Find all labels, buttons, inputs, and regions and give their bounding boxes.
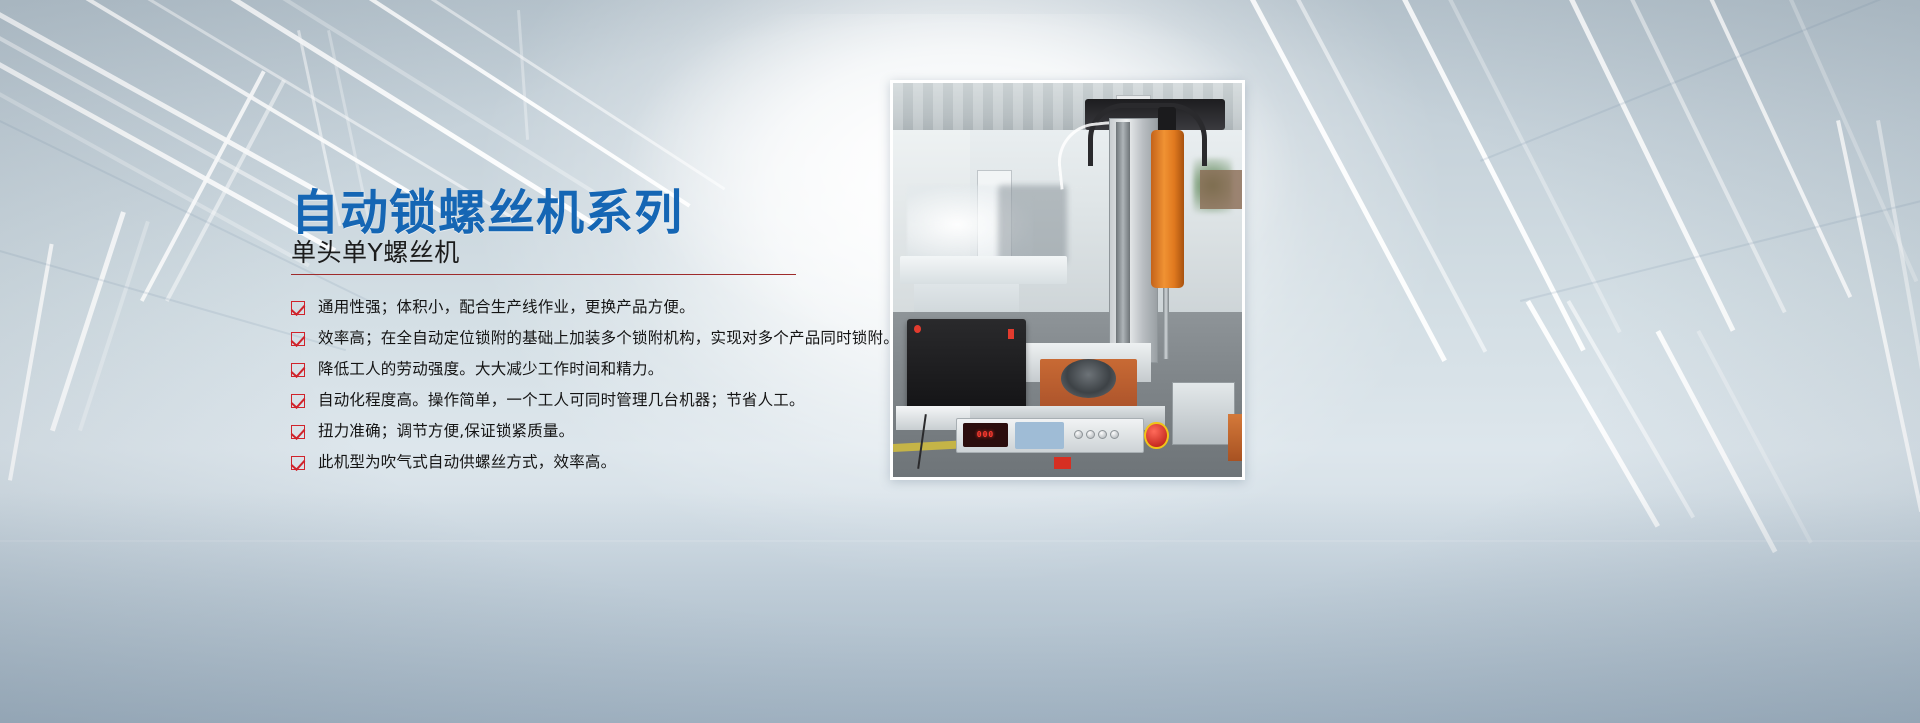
photo-knob-row [1074,424,1140,446]
photo-indicator-led [1008,329,1014,338]
list-item: 扭力准确；调节方便,保证锁紧质量。 [291,416,911,447]
photo-knob [1098,430,1107,439]
list-item: 自动化程度高。操作简单，一个工人可同时管理几台机器；节省人工。 [291,385,911,416]
check-icon [291,332,305,346]
list-item: 此机型为吹气式自动供螺丝方式，效率高。 [291,447,911,478]
photo-power-switch [1054,457,1071,469]
photo-keypad [1015,422,1064,450]
product-photo-frame: 000 [890,80,1245,480]
feature-text: 通用性强；体积小，配合生产线作业，更换产品方便。 [318,292,695,323]
photo-right-equipment [1228,414,1242,461]
check-icon [291,363,305,377]
banner-content: 自动锁螺丝机系列 单头单Y螺丝机 通用性强；体积小，配合生产线作业，更换产品方便… [0,0,1920,723]
check-icon [291,425,305,439]
page-subtitle: 单头单Y螺丝机 [291,233,460,269]
check-icon [291,456,305,470]
photo-right-crate [1200,170,1242,209]
list-item: 降低工人的劳动强度。大大减少工作时间和精力。 [291,354,911,385]
list-item: 效率高；在全自动定位锁附的基础上加装多个锁附机构，实现对多个产品同时锁附。 [291,323,911,354]
feature-text: 此机型为吹气式自动供螺丝方式，效率高。 [318,447,616,478]
title-divider [291,274,796,275]
photo-counter-display: 000 [963,423,1008,447]
photo-knob [1110,430,1119,439]
photo-knob [1074,430,1083,439]
photo-knob [1086,430,1095,439]
product-photo: 000 [893,83,1242,477]
feature-text: 降低工人的劳动强度。大大减少工作时间和精力。 [318,354,663,385]
photo-electric-screwdriver [1151,130,1184,288]
feature-text: 效率高；在全自动定位锁附的基础上加装多个锁附机构，实现对多个产品同时锁附。 [318,323,899,354]
photo-emergency-stop [1144,422,1168,450]
feature-text: 自动化程度高。操作简单，一个工人可同时管理几台机器；节省人工。 [318,385,805,416]
feature-list: 通用性强；体积小，配合生产线作业，更换产品方便。 效率高；在全自动定位锁附的基础… [291,292,911,478]
check-icon [291,301,305,315]
check-icon [291,394,305,408]
photo-workbench [900,256,1068,284]
photo-screwdriver-bit [1163,288,1169,359]
photo-background-machine [998,185,1068,264]
feature-text: 扭力准确；调节方便,保证锁紧质量。 [318,416,574,447]
list-item: 通用性强；体积小，配合生产线作业，更换产品方便。 [291,292,911,323]
photo-workpiece [1061,359,1117,398]
photo-monitor [1172,382,1235,445]
photo-linear-rail [1116,122,1130,351]
counter-value: 000 [977,430,994,439]
